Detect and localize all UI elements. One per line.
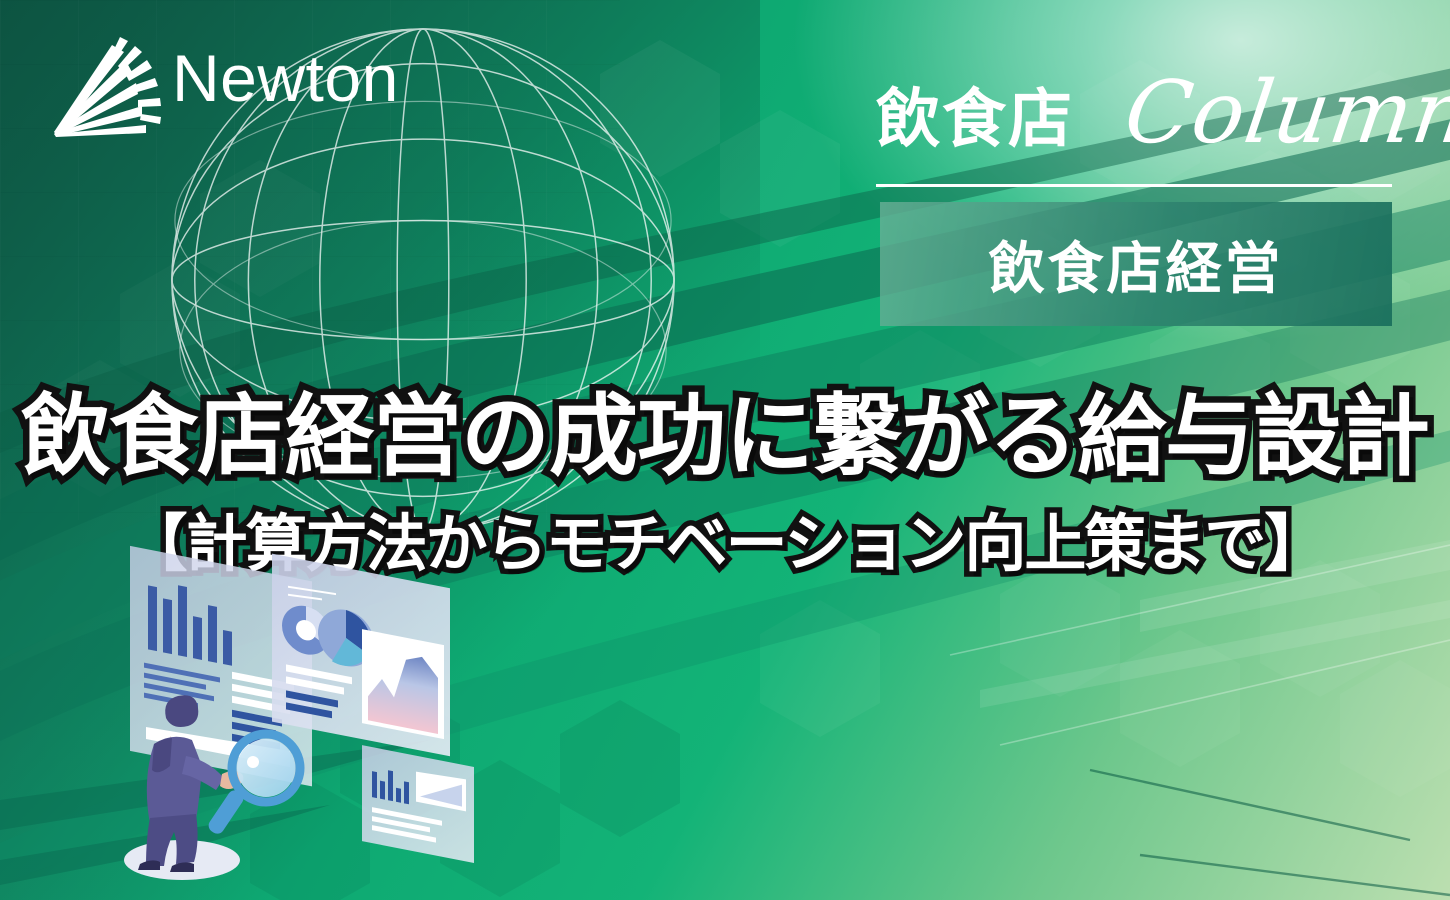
businessman-with-magnifier-dashboard-illustration [110,530,500,890]
pie-chart-panel [272,554,450,757]
column-header: 飲食店 Column [876,92,1394,192]
newton-fan-logo-icon [50,28,170,138]
column-category-jp: 飲食店 [876,88,1074,152]
category-badge-label: 飲食店経営 [880,202,1392,326]
column-header-underline [876,184,1392,187]
small-bar-chart-panel [362,745,474,863]
page-title: 飲食店経営の成功に繋がる給与設計 [0,392,1450,481]
column-category-en: Column [1120,70,1450,156]
category-badge[interactable]: 飲食店経営 [880,202,1392,326]
area-chart-panel [362,629,444,739]
hero-banner: Newton 飲食店 Column 飲食店経営 飲食店経営の成功に繋がる給与設計… [0,0,1450,900]
brand-name: Newton [172,45,399,111]
